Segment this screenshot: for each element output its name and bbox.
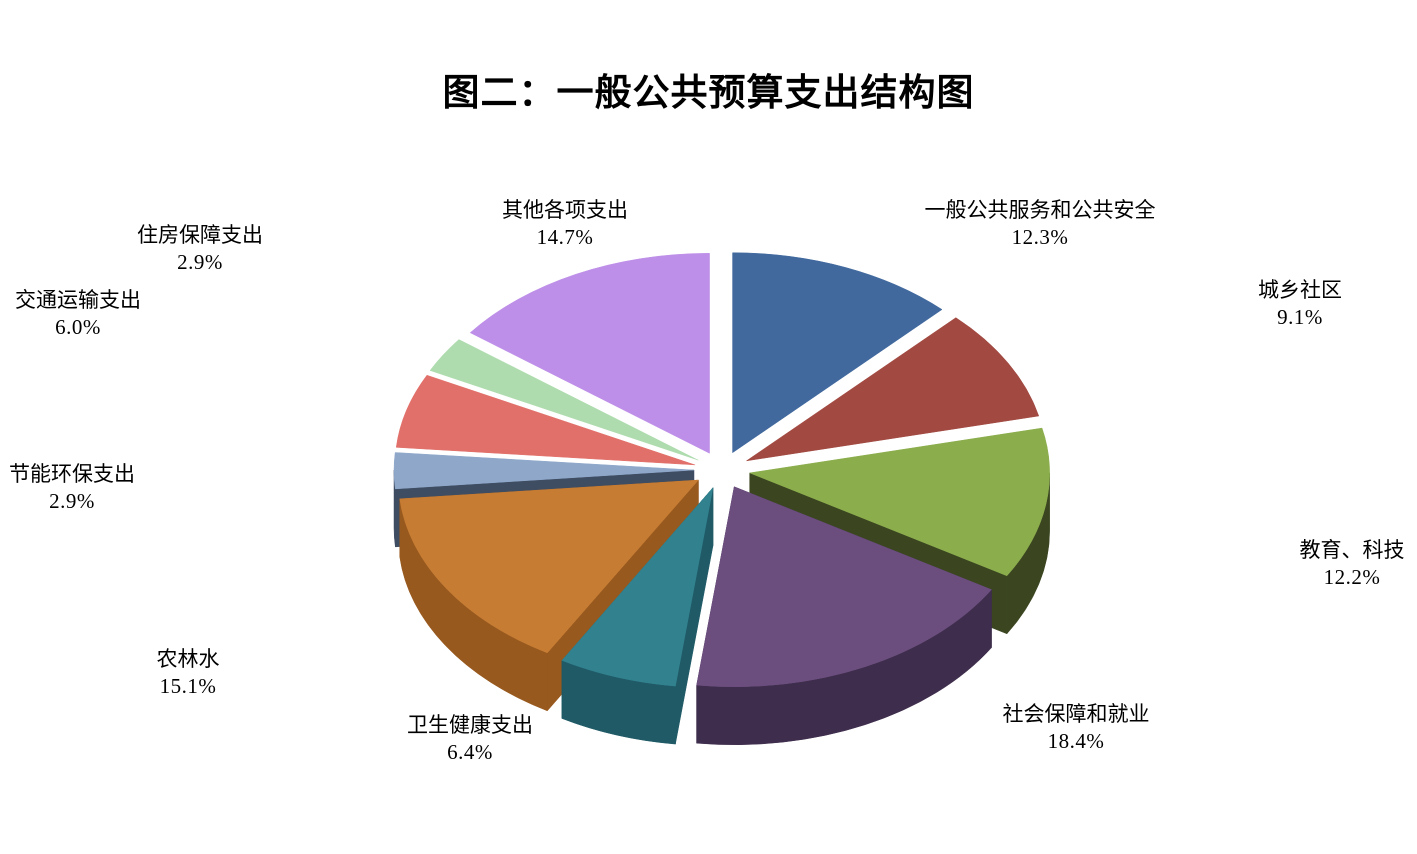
- pie-label-9: 住房保障支出2.9%: [137, 222, 263, 277]
- pie-label-percent: 14.7%: [502, 224, 628, 251]
- pie-label-name: 卫生健康支出: [407, 712, 533, 739]
- pie-label-3: 教育、科技12.2%: [1300, 537, 1405, 592]
- pie-label-name: 其他各项支出: [502, 197, 628, 224]
- pie-label-name: 社会保障和就业: [1003, 701, 1150, 728]
- pie-label-name: 交通运输支出: [15, 287, 141, 314]
- chart-page: 图二：一般公共预算支出结构图 一般公共服务和公共安全12.3%城乡社区9.1%教…: [0, 0, 1417, 854]
- pie-label-percent: 9.1%: [1258, 304, 1342, 331]
- pie-label-1: 一般公共服务和公共安全12.3%: [925, 197, 1156, 252]
- pie-label-6: 农林水15.1%: [157, 646, 220, 701]
- pie-label-10: 其他各项支出14.7%: [502, 197, 628, 252]
- pie-label-2: 城乡社区9.1%: [1258, 277, 1342, 332]
- pie-label-name: 教育、科技: [1300, 537, 1405, 564]
- pie-label-4: 社会保障和就业18.4%: [1003, 701, 1150, 756]
- pie-label-percent: 2.9%: [137, 249, 263, 276]
- pie-label-5: 卫生健康支出6.4%: [407, 712, 533, 767]
- pie-label-name: 城乡社区: [1258, 277, 1342, 304]
- pie-label-percent: 6.0%: [15, 314, 141, 341]
- pie-label-percent: 12.3%: [925, 224, 1156, 251]
- pie-slices-group: [394, 253, 1050, 745]
- pie-chart-3d: [0, 0, 1417, 854]
- pie-label-name: 农林水: [157, 646, 220, 673]
- pie-label-percent: 6.4%: [407, 739, 533, 766]
- pie-label-percent: 15.1%: [157, 673, 220, 700]
- pie-label-percent: 12.2%: [1300, 564, 1405, 591]
- pie-label-7: 节能环保支出2.9%: [9, 461, 135, 516]
- pie-label-8: 交通运输支出6.0%: [15, 287, 141, 342]
- pie-label-percent: 2.9%: [9, 488, 135, 515]
- pie-label-percent: 18.4%: [1003, 728, 1150, 755]
- pie-label-name: 住房保障支出: [137, 222, 263, 249]
- pie-label-name: 一般公共服务和公共安全: [925, 197, 1156, 224]
- pie-label-name: 节能环保支出: [9, 461, 135, 488]
